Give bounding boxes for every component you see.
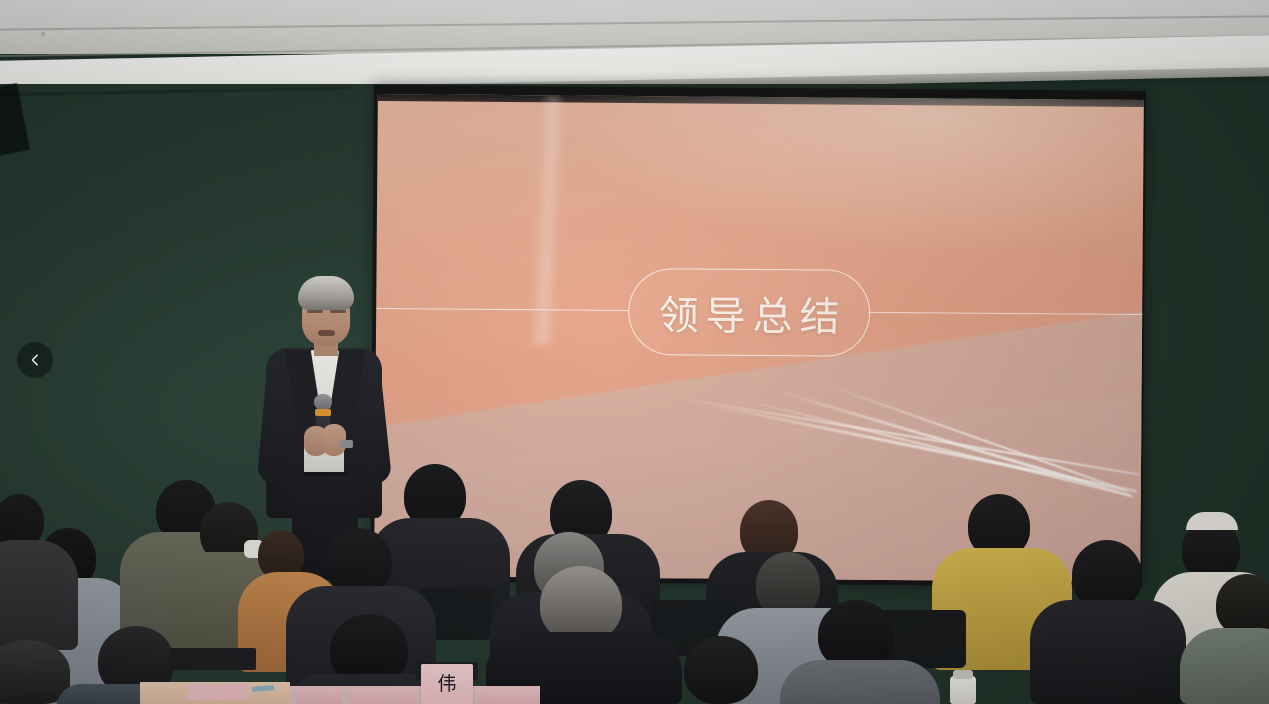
bottle-cap [953, 670, 973, 679]
slide-rule-right [868, 312, 1144, 315]
speaker-mouth [318, 330, 335, 336]
microphone-band [315, 409, 331, 416]
name-placard: 伟 [421, 664, 473, 704]
speaker-presenter [248, 276, 398, 576]
speaker-wristwatch [340, 440, 353, 448]
placard-stand [342, 690, 349, 704]
photo-viewer-stage: 领导总结 [0, 0, 1269, 704]
water-bottle [950, 676, 976, 704]
previous-image-button[interactable] [17, 342, 53, 378]
pink-document [188, 684, 248, 700]
microphone-head [314, 394, 332, 410]
placard-stand [290, 690, 297, 704]
conference-table [280, 686, 540, 704]
speaker-hair [298, 276, 354, 310]
slide-rule-left [376, 308, 628, 311]
slide-title: 领导总结 [651, 283, 846, 343]
name-placard-text: 伟 [437, 675, 456, 694]
chevron-left-icon [28, 353, 42, 367]
ceiling-fixture-screw [41, 32, 45, 36]
laptop [170, 648, 256, 670]
speaker-eyebrow [307, 310, 323, 313]
speaker-eyebrow [330, 310, 346, 313]
slide-title-pill: 领导总结 [628, 268, 871, 357]
